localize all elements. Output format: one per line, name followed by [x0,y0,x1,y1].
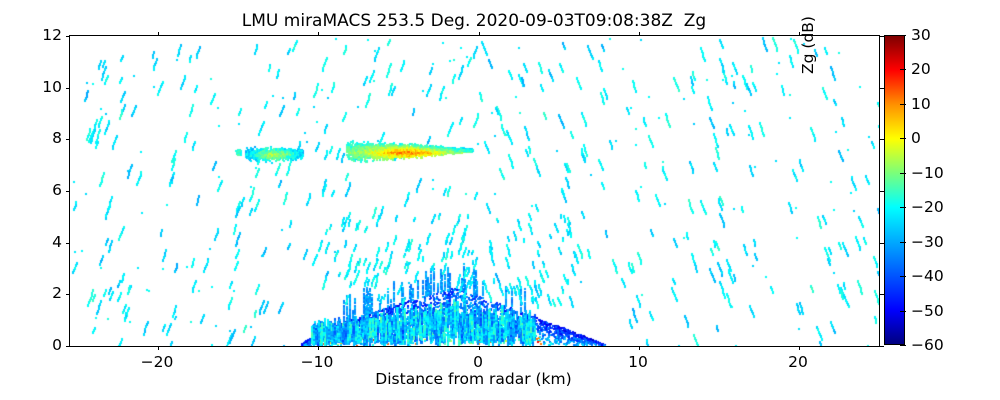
colorbar-tick-label: −60 [911,336,944,354]
y-tick-mark [66,243,70,244]
plot-area[interactable] [69,35,880,347]
x-tick-mark [639,346,640,350]
colorbar-tick-mark [900,138,906,139]
colorbar-tick-mark [900,276,906,277]
y-tick-label: 0 [52,336,62,354]
x-tick-label: −20 [117,353,197,371]
x-tick-mark [799,346,800,350]
y-tick-mark [66,346,70,347]
colorbar-tick-label: 30 [911,26,931,44]
x-tick-mark [158,346,159,350]
colorbar-title: Zg (dB) [799,0,819,200]
radar-rhi-figure: LMU miraMACS 253.5 Deg. 2020-09-03T09:08… [0,0,1000,400]
colorbar-tick-label: −20 [911,198,944,216]
x-tick-mark-top [318,32,319,36]
colorbar-tick-mark [900,311,906,312]
y-tick-label: 8 [52,129,62,147]
y-tick-label: 12 [42,26,62,44]
y-tick-mark-right [880,346,884,347]
colorbar-tick-mark [900,207,906,208]
colorbar-tick-label: −10 [911,164,944,182]
colorbar-tick-label: −30 [911,233,944,251]
y-tick-label: 4 [52,233,62,251]
colorbar-tick-mark [900,69,906,70]
colorbar-gradient [884,35,905,345]
radar-echo-canvas [70,36,879,346]
y-tick-label: 10 [42,78,62,96]
y-tick-mark [66,139,70,140]
y-tick-label: 2 [52,284,62,302]
colorbar-tick-mark [900,242,906,243]
colorbar-tick-mark [900,35,906,36]
colorbar-tick-label: 10 [911,95,931,113]
colorbar-tick-label: 0 [911,129,921,147]
colorbar-tick-mark [900,345,906,346]
x-axis-title: Distance from radar (km) [69,370,878,388]
colorbar-tick-mark [900,104,906,105]
x-tick-label: 10 [598,353,678,371]
y-tick-mark [66,191,70,192]
y-tick-mark [66,294,70,295]
x-tick-mark [479,346,480,350]
colorbar-tick-label: −40 [911,267,944,285]
x-tick-mark-top [479,32,480,36]
x-tick-mark [318,346,319,350]
y-tick-mark [66,36,70,37]
x-tick-label: 20 [758,353,838,371]
x-tick-mark-top [639,32,640,36]
x-tick-label: −10 [277,353,357,371]
colorbar[interactable] [884,35,905,345]
colorbar-tick-mark [900,173,906,174]
colorbar-tick-label: −50 [911,302,944,320]
x-tick-label: 0 [438,353,518,371]
x-tick-mark-top [158,32,159,36]
colorbar-tick-label: 20 [911,60,931,78]
y-tick-label: 6 [52,181,62,199]
y-tick-mark [66,88,70,89]
